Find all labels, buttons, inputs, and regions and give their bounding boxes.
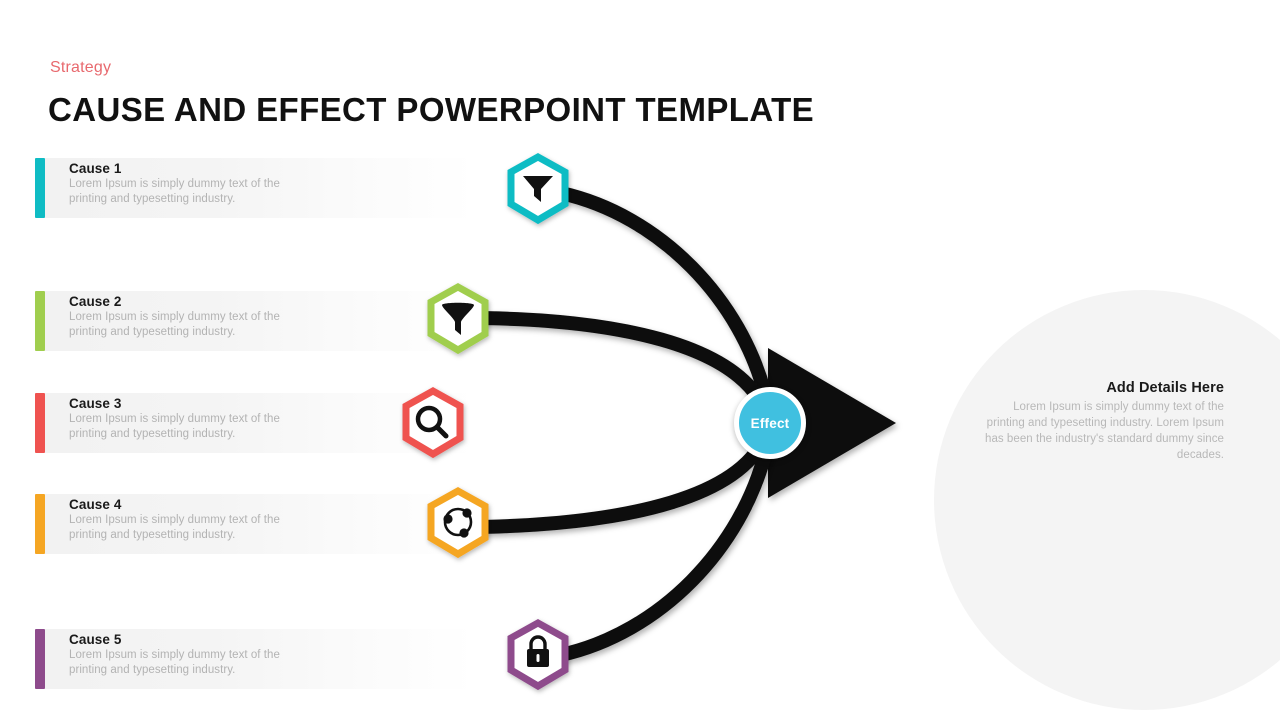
cause-title: Cause 4: [69, 497, 475, 513]
hexagon-outline: [431, 491, 485, 554]
connector-cause-4: [481, 443, 762, 527]
cause-accent-bar: [35, 158, 45, 218]
cause-icon-node-5[interactable]: [501, 618, 575, 692]
cause-description: Lorem Ipsum is simply dummy text of the …: [69, 513, 304, 543]
cause-card-5[interactable]: Cause 5 Lorem Ipsum is simply dummy text…: [35, 629, 475, 689]
cause-accent-bar: [35, 393, 45, 453]
cause-card-2[interactable]: Cause 2 Lorem Ipsum is simply dummy text…: [35, 291, 475, 351]
cause-description: Lorem Ipsum is simply dummy text of the …: [69, 648, 304, 678]
cause-accent-bar: [35, 494, 45, 554]
background-decorative-circle: [934, 290, 1280, 710]
cause-accent-bar: [35, 629, 45, 689]
cause-body: Cause 4 Lorem Ipsum is simply dummy text…: [45, 494, 475, 554]
cause-icon-node-2[interactable]: [421, 282, 495, 356]
page-eyebrow: Strategy: [50, 59, 111, 77]
details-panel: Add Details Here Lorem Ipsum is simply d…: [980, 380, 1224, 463]
details-description: Lorem Ipsum is simply dummy text of the …: [980, 399, 1224, 463]
cause-description: Lorem Ipsum is simply dummy text of the …: [69, 310, 304, 340]
cause-body: Cause 1 Lorem Ipsum is simply dummy text…: [45, 158, 475, 218]
cause-card-4[interactable]: Cause 4 Lorem Ipsum is simply dummy text…: [35, 494, 475, 554]
cause-title: Cause 5: [69, 632, 475, 648]
cause-description: Lorem Ipsum is simply dummy text of the …: [69, 177, 304, 207]
cause-body: Cause 2 Lorem Ipsum is simply dummy text…: [45, 291, 475, 351]
cause-icon-node-1[interactable]: [501, 152, 575, 226]
hexagon-outline: [406, 391, 460, 454]
effect-node[interactable]: Effect: [734, 387, 806, 459]
cause-body: Cause 5 Lorem Ipsum is simply dummy text…: [45, 629, 475, 689]
cause-icon-node-4[interactable]: [421, 486, 495, 560]
cause-description: Lorem Ipsum is simply dummy text of the …: [69, 412, 304, 442]
details-title: Add Details Here: [980, 380, 1224, 396]
cause-icon-node-3[interactable]: [396, 386, 470, 460]
cause-card-1[interactable]: Cause 1 Lorem Ipsum is simply dummy text…: [35, 158, 475, 218]
page-title: CAUSE AND EFFECT POWERPOINT TEMPLATE: [48, 91, 814, 129]
cause-title: Cause 2: [69, 294, 475, 310]
connector-cause-5: [561, 450, 766, 655]
cause-title: Cause 1: [69, 161, 475, 177]
effect-label: Effect: [751, 416, 790, 431]
cause-accent-bar: [35, 291, 45, 351]
connector-cause-1: [561, 193, 766, 398]
connector-cause-2: [481, 318, 762, 404]
